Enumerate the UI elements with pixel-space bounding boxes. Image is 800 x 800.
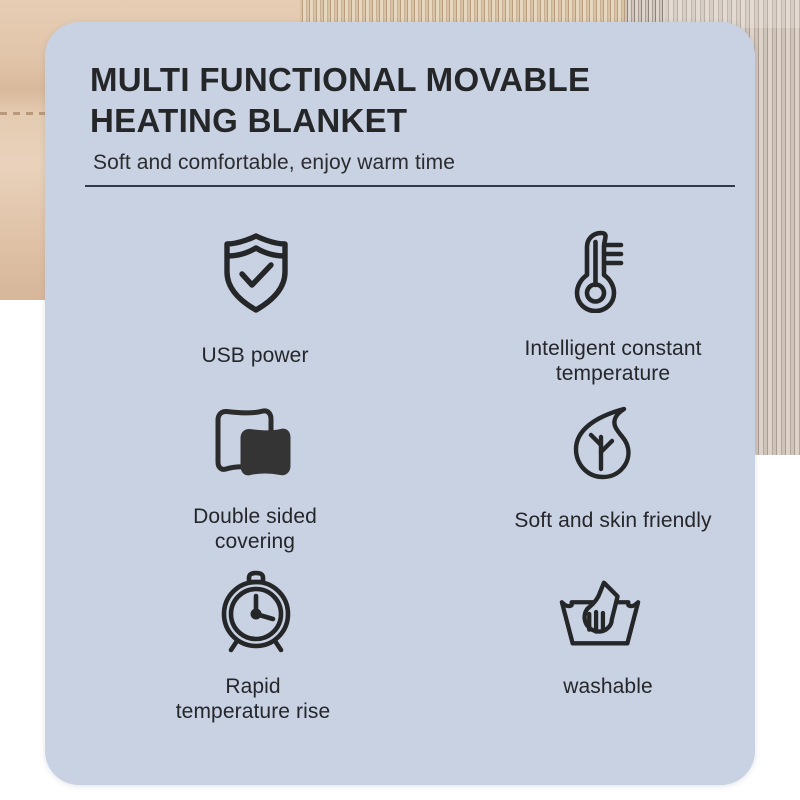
feature-item-constant-temperature: Intelligent constant temperature <box>400 218 755 396</box>
card-header: MULTI FUNCTIONAL MOVABLEHEATING BLANKET … <box>90 60 729 175</box>
thermometer-icon <box>558 228 644 314</box>
feature-label: USB power <box>150 343 360 368</box>
feature-grid: USB power Intelligent constant temperatu… <box>45 218 755 738</box>
leaf-icon <box>560 400 646 486</box>
feature-item-skin-friendly: Soft and skin friendly <box>400 396 755 566</box>
feature-item-usb-power: USB power <box>45 218 400 396</box>
shield-check-icon <box>213 230 299 316</box>
alarm-clock-icon <box>213 568 299 654</box>
feature-label: Soft and skin friendly <box>443 508 755 533</box>
title-line-2: HEATING BLANKET <box>90 102 407 139</box>
page-title: MULTI FUNCTIONAL MOVABLEHEATING BLANKET <box>90 60 729 142</box>
feature-label: washable <box>488 674 728 699</box>
hand-wash-basin-icon <box>557 570 643 656</box>
title-line-1: MULTI FUNCTIONAL MOVABLE <box>90 61 590 98</box>
feature-item-rapid-temperature-rise: Rapid temperature rise <box>45 566 400 738</box>
feature-card-panel: MULTI FUNCTIONAL MOVABLEHEATING BLANKET … <box>45 22 755 785</box>
header-divider <box>85 185 735 187</box>
page-subtitle: Soft and comfortable, enjoy warm time <box>93 151 729 175</box>
feature-item-washable: washable <box>400 566 755 738</box>
double-sided-fabric-icon <box>208 402 294 488</box>
feature-label: Double sided covering <box>140 504 370 554</box>
feature-item-double-sided-covering: Double sided covering <box>45 396 400 566</box>
feature-label: Rapid temperature rise <box>128 674 378 724</box>
feature-label: Intelligent constant temperature <box>458 336 755 386</box>
